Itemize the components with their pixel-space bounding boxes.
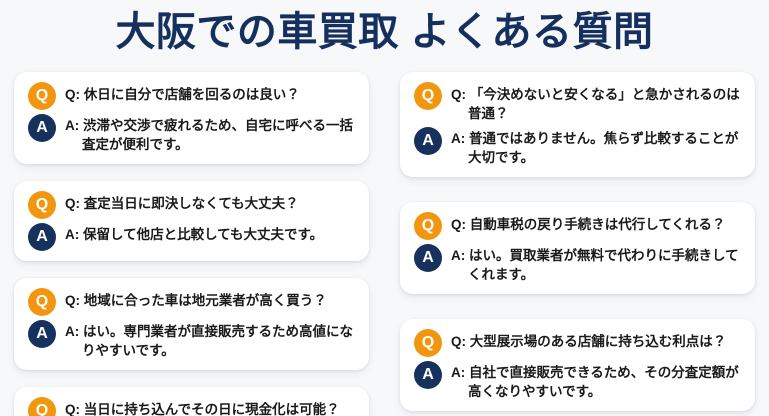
question-badge-icon: Q	[414, 329, 442, 357]
faq-question-row: Q Q: 自動車税の戻り手続きは代行してくれる？	[414, 211, 743, 240]
faq-card[interactable]: Q Q: 査定当日に即決しなくても大丈夫？ A A: 保留して他店と比較しても大…	[14, 181, 369, 261]
faq-answer-text: A: 保留して他店と比較しても大丈夫です。	[65, 222, 357, 244]
faq-question-text: Q: 地域に合った車は地元業者が高く買う？	[65, 287, 357, 310]
faq-question-text: Q: 大型展示場のある店舗に持ち込む利点は？	[451, 328, 743, 351]
question-badge-icon: Q	[414, 82, 442, 110]
faq-card[interactable]: Q Q: 自動車税の戻り手続きは代行してくれる？ A A: はい。買取業者が無料…	[400, 202, 755, 294]
faq-question-row: Q Q: 査定当日に即決しなくても大丈夫？	[28, 190, 357, 219]
faq-card[interactable]: Q Q: 休日に自分で店舗を回るのは良い？ A A: 渋滞や交渉で疲れるため、自…	[14, 72, 369, 164]
answer-badge-icon: A	[414, 361, 442, 389]
faq-answer-text: A: はい。専門業者が直接販売するため高値になりやすいです。	[65, 319, 357, 360]
faq-page: 大阪での車買取 よくある質問 Q Q: 休日に自分で店舗を回るのは良い？ A A…	[0, 0, 769, 416]
faq-card[interactable]: Q Q: 「今決めないと安くなる」と急かされるのは普通？ A A: 普通ではあり…	[400, 72, 755, 177]
faq-answer-row: A A: 保留して他店と比較しても大丈夫です。	[28, 222, 357, 251]
faq-question-text: Q: 「今決めないと安くなる」と急かされるのは普通？	[451, 81, 743, 123]
faq-question-text: Q: 当日に持ち込んでその日に現金化は可能？	[65, 396, 357, 416]
faq-question-row: Q Q: 休日に自分で店舗を回るのは良い？	[28, 81, 357, 110]
faq-answer-row: A A: はい。専門業者が直接販売するため高値になりやすいです。	[28, 319, 357, 360]
answer-badge-icon: A	[414, 244, 442, 272]
question-badge-icon: Q	[28, 191, 56, 219]
faq-question-row: Q Q: 地域に合った車は地元業者が高く買う？	[28, 287, 357, 316]
faq-columns: Q Q: 休日に自分で店舗を回るのは良い？ A A: 渋滞や交渉で疲れるため、自…	[0, 72, 769, 416]
page-title: 大阪での車買取 よくある質問	[0, 6, 769, 58]
faq-answer-text: A: 自社で直接販売できるため、その分査定額が高くなりやすいです。	[451, 360, 743, 401]
faq-answer-text: A: はい。買取業者が無料で代わりに手続きしてくれます。	[451, 243, 743, 284]
question-badge-icon: Q	[28, 397, 56, 416]
faq-question-text: Q: 休日に自分で店舗を回るのは良い？	[65, 81, 357, 104]
answer-badge-icon: A	[28, 320, 56, 348]
faq-card[interactable]: Q Q: 地域に合った車は地元業者が高く買う？ A A: はい。専門業者が直接販…	[14, 278, 369, 370]
faq-answer-row: A A: はい。買取業者が無料で代わりに手続きしてくれます。	[414, 243, 743, 284]
faq-question-row: Q Q: 大型展示場のある店舗に持ち込む利点は？	[414, 328, 743, 357]
question-badge-icon: Q	[414, 212, 442, 240]
answer-badge-icon: A	[28, 114, 56, 142]
faq-question-row: Q Q: 当日に持ち込んでその日に現金化は可能？	[28, 396, 357, 416]
question-badge-icon: Q	[28, 82, 56, 110]
faq-answer-text: A: 渋滞や交渉で疲れるため、自宅に呼べる一括査定が便利です。	[65, 113, 357, 154]
faq-question-text: Q: 自動車税の戻り手続きは代行してくれる？	[451, 211, 743, 234]
answer-badge-icon: A	[414, 127, 442, 155]
faq-answer-row: A A: 自社で直接販売できるため、その分査定額が高くなりやすいです。	[414, 360, 743, 401]
faq-answer-row: A A: 渋滞や交渉で疲れるため、自宅に呼べる一括査定が便利です。	[28, 113, 357, 154]
answer-badge-icon: A	[28, 223, 56, 251]
faq-question-text: Q: 査定当日に即決しなくても大丈夫？	[65, 190, 357, 213]
faq-column-right: Q Q: 「今決めないと安くなる」と急かされるのは普通？ A A: 普通ではあり…	[400, 72, 755, 416]
faq-column-left: Q Q: 休日に自分で店舗を回るのは良い？ A A: 渋滞や交渉で疲れるため、自…	[14, 72, 369, 416]
faq-answer-text: A: 普通ではありません。焦らず比較することが大切です。	[451, 126, 743, 167]
faq-question-row: Q Q: 「今決めないと安くなる」と急かされるのは普通？	[414, 81, 743, 123]
question-badge-icon: Q	[28, 288, 56, 316]
faq-answer-row: A A: 普通ではありません。焦らず比較することが大切です。	[414, 126, 743, 167]
faq-card[interactable]: Q Q: 大型展示場のある店舗に持ち込む利点は？ A A: 自社で直接販売できる…	[400, 319, 755, 411]
faq-card[interactable]: Q Q: 当日に持ち込んでその日に現金化は可能？ A A: 必要な書類が揃ってい…	[14, 387, 369, 416]
